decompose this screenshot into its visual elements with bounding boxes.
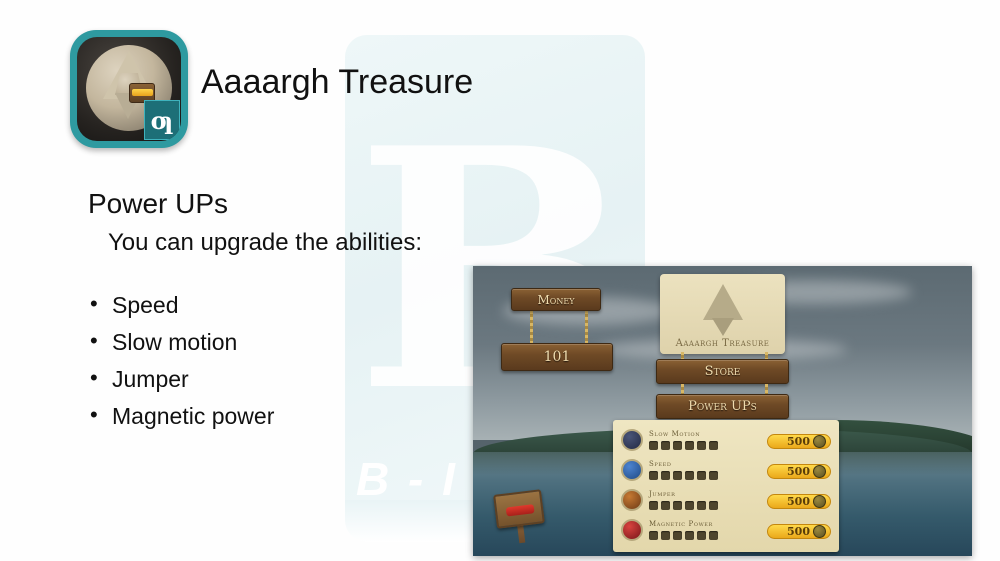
upgrade-slot bbox=[685, 441, 694, 450]
upgrade-slot bbox=[649, 531, 658, 540]
money-value-sign: 101 bbox=[501, 343, 613, 371]
buy-button[interactable]: 500 bbox=[767, 524, 831, 539]
upgrade-slot bbox=[649, 441, 658, 450]
upgrade-slot bbox=[697, 531, 706, 540]
presentation-slide: B B - I ƣ Aaaargh Treasure Power UPs You… bbox=[0, 0, 1000, 561]
buy-button[interactable]: 500 bbox=[767, 464, 831, 479]
banner-emblem-leg-icon bbox=[712, 318, 734, 336]
upgrade-slot bbox=[697, 471, 706, 480]
upgrade-slot bbox=[697, 441, 706, 450]
upgrade-slot bbox=[685, 501, 694, 510]
upgrade-slot bbox=[661, 531, 670, 540]
price-label: 500 bbox=[787, 495, 810, 508]
power-up-row-magnetic-power[interactable]: Magnetic Power 500 bbox=[621, 515, 831, 545]
app-icon: ƣ bbox=[70, 30, 188, 148]
list-item: Speed bbox=[88, 292, 274, 319]
buy-button[interactable]: 500 bbox=[767, 434, 831, 449]
buy-button[interactable]: 500 bbox=[767, 494, 831, 509]
banner-title-text: Aaaargh Treasure bbox=[660, 338, 785, 349]
rope-segment bbox=[585, 311, 588, 344]
upgrade-slot bbox=[673, 501, 682, 510]
upgrade-slot bbox=[697, 501, 706, 510]
power-up-row-slow-motion[interactable]: Slow Motion 500 bbox=[621, 425, 831, 455]
power-up-row-speed[interactable]: Speed 500 bbox=[621, 455, 831, 485]
list-item: Magnetic power bbox=[88, 403, 274, 430]
back-button[interactable] bbox=[493, 489, 545, 529]
store-button[interactable]: Store bbox=[656, 359, 789, 384]
app-icon-inner: ƣ bbox=[77, 37, 181, 141]
upgrade-slot bbox=[649, 501, 658, 510]
upgrade-slot bbox=[649, 471, 658, 480]
list-item: Jumper bbox=[88, 366, 274, 393]
coin-icon bbox=[813, 495, 826, 508]
price-label: 500 bbox=[787, 525, 810, 538]
upgrade-slot bbox=[661, 441, 670, 450]
power-ups-button[interactable]: Power UPs bbox=[656, 394, 789, 419]
jumper-icon bbox=[621, 489, 643, 511]
game-title-banner: Aaaargh Treasure bbox=[660, 274, 785, 354]
money-label-sign: Money bbox=[511, 288, 601, 311]
studio-badge-icon: ƣ bbox=[144, 100, 180, 140]
abilities-list: Speed Slow motion Jumper Magnetic power bbox=[88, 292, 274, 440]
banner-emblem-icon bbox=[703, 284, 743, 320]
upgrade-slot bbox=[673, 531, 682, 540]
upgrade-slot bbox=[685, 531, 694, 540]
upgrade-slot bbox=[661, 471, 670, 480]
power-up-row-jumper[interactable]: Jumper 500 bbox=[621, 485, 831, 515]
rope-segment bbox=[530, 311, 533, 344]
upgrade-slot bbox=[685, 471, 694, 480]
upgrade-slot bbox=[709, 501, 718, 510]
coin-icon bbox=[813, 465, 826, 478]
game-screenshot: Money 101 Aaaargh Treasure Store Power U… bbox=[473, 266, 972, 556]
upgrade-slot bbox=[709, 441, 718, 450]
upgrade-slot bbox=[673, 471, 682, 480]
price-label: 500 bbox=[787, 465, 810, 478]
coin-icon bbox=[813, 525, 826, 538]
slow-motion-icon bbox=[621, 429, 643, 451]
section-subtitle: You can upgrade the abilities: bbox=[108, 229, 422, 257]
upgrade-slot bbox=[709, 531, 718, 540]
back-arrow-icon bbox=[506, 504, 535, 516]
price-label: 500 bbox=[787, 435, 810, 448]
speed-icon bbox=[621, 459, 643, 481]
upgrade-slot bbox=[661, 501, 670, 510]
section-heading: Power UPs bbox=[88, 188, 228, 220]
coin-icon bbox=[813, 435, 826, 448]
power-ups-panel: Slow Motion 500 bbox=[613, 420, 839, 552]
upgrade-slot bbox=[673, 441, 682, 450]
upgrade-slot bbox=[709, 471, 718, 480]
list-item: Slow motion bbox=[88, 329, 274, 356]
page-title: Aaaargh Treasure bbox=[201, 63, 473, 102]
magnetic-power-icon bbox=[621, 519, 643, 541]
